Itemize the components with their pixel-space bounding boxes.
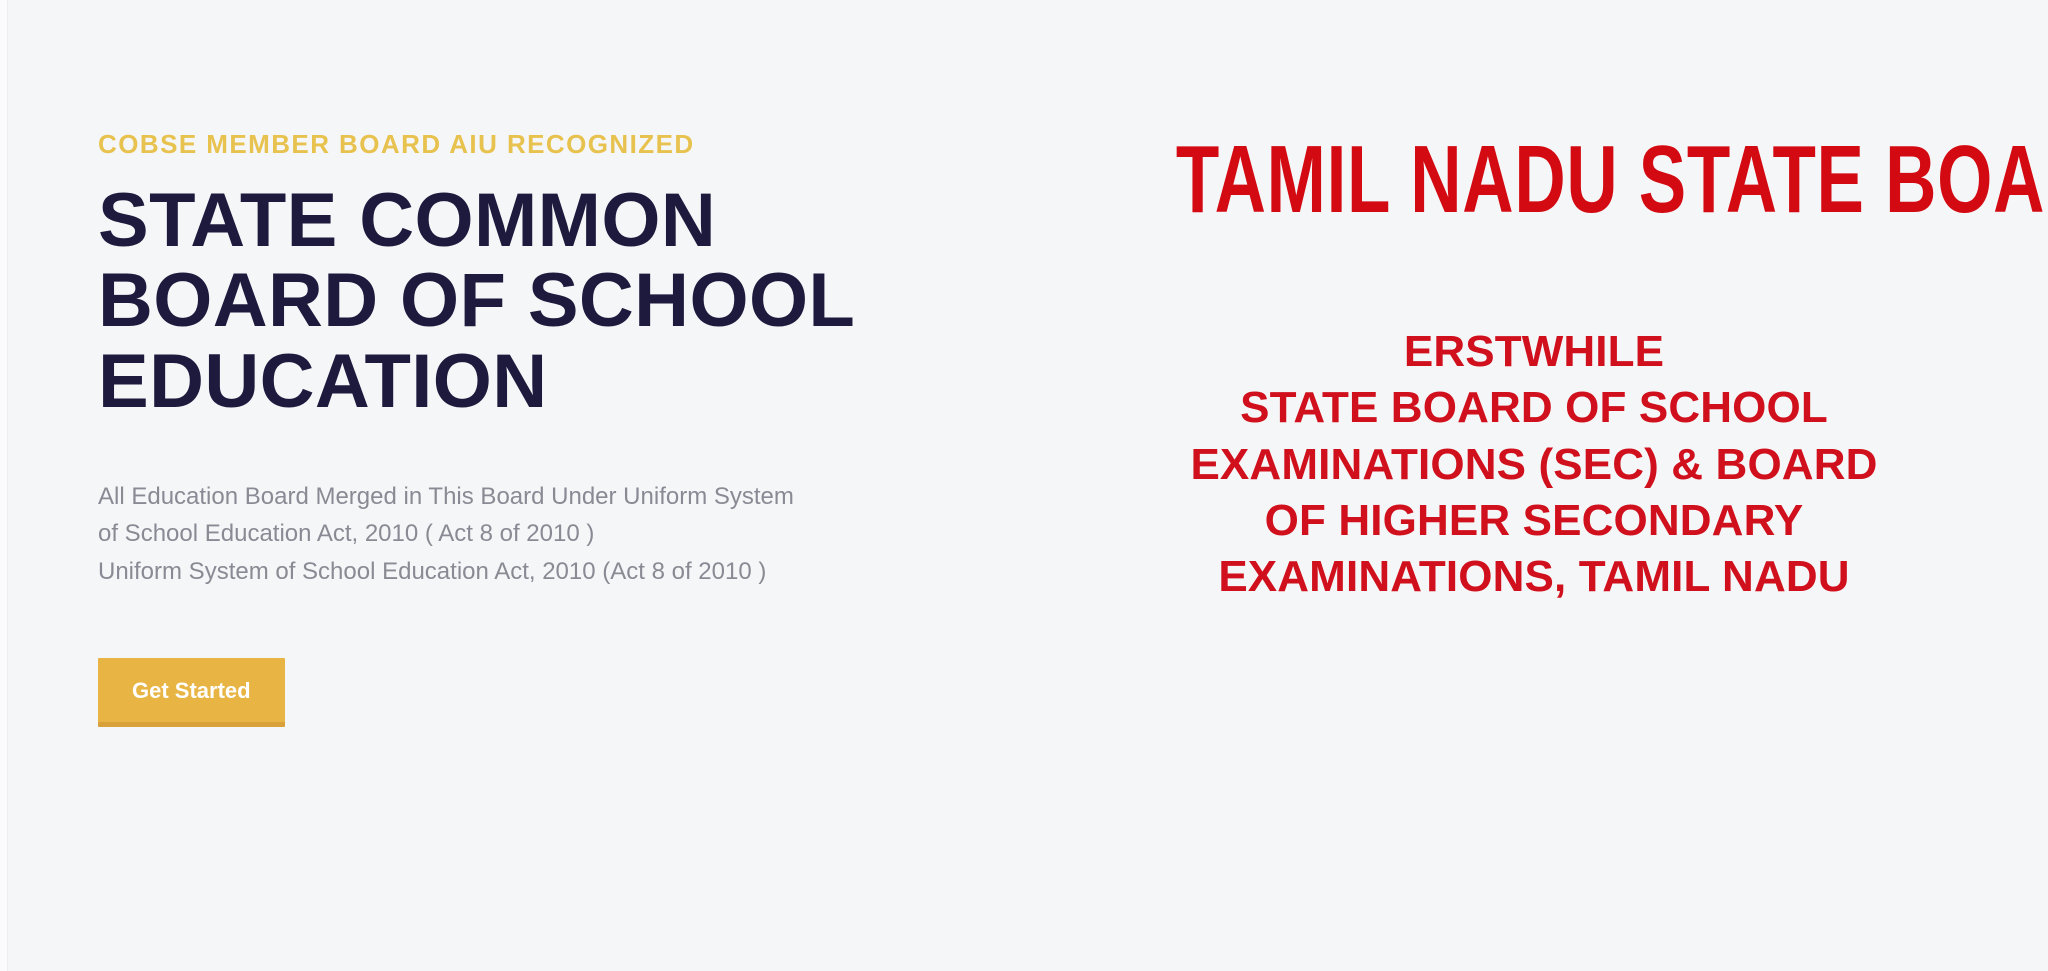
board-former-name-line-5: EXAMINATIONS, TAMIL NADU — [1050, 549, 2018, 605]
hero-description-line-3: Uniform System of School Education Act, … — [98, 553, 1020, 590]
board-former-name-line-3: EXAMINATIONS (SEC) & BOARD — [1050, 437, 2018, 493]
hero-description-line-2: of School Education Act, 2010 ( Act 8 of… — [98, 515, 1020, 552]
hero-left-column: COBSE MEMBER BOARD AIU RECOGNIZED STATE … — [0, 0, 1020, 971]
get-started-button[interactable]: Get Started — [98, 658, 285, 727]
board-former-name-line-2: STATE BOARD OF SCHOOL — [1050, 380, 2018, 436]
hero-description: All Education Board Merged in This Board… — [98, 478, 1020, 590]
hero-banner: COBSE MEMBER BOARD AIU RECOGNIZED STATE … — [0, 0, 2048, 971]
board-former-name-line-1: ERSTWHILE — [1050, 324, 2018, 380]
board-name-heading: TAMIL NADU STATE BOARD — [1176, 132, 1892, 228]
eyebrow-accreditation-text: COBSE MEMBER BOARD AIU RECOGNIZED — [98, 130, 1020, 159]
hero-description-line-1: All Education Board Merged in This Board… — [98, 478, 1020, 515]
page-title-line-3: EDUCATION — [98, 339, 548, 424]
cta-container: Get Started — [98, 658, 1020, 727]
page-title-line-1: STATE COMMON — [98, 178, 716, 263]
board-former-name-text: ERSTWHILE STATE BOARD OF SCHOOL EXAMINAT… — [1050, 324, 2018, 606]
hero-right-column: TAMIL NADU STATE BOARD ERSTWHILE STATE B… — [1020, 0, 2048, 971]
page-title: STATE COMMON BOARD OF SCHOOL EDUCATION — [98, 181, 998, 423]
board-former-name-line-4: OF HIGHER SECONDARY — [1050, 493, 2018, 549]
page-title-line-2: BOARD OF SCHOOL — [98, 258, 854, 343]
